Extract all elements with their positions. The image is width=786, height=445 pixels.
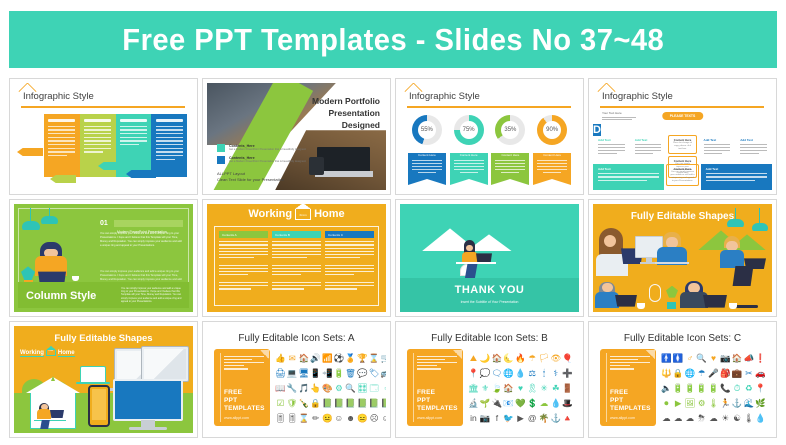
donut-label-1: 55% — [412, 115, 442, 145]
person-bl-body — [595, 292, 619, 308]
thank-you-subtitle: Insert the Subtitle of Your Presentation — [400, 300, 579, 304]
icon-cell[interactable]: ✏ — [310, 411, 321, 425]
slide-5-title: Column Style — [26, 290, 96, 302]
wfh-column-1: Contents A — [219, 231, 268, 300]
icon-cell[interactable]: ⚙ — [696, 396, 707, 410]
slide-thumbnail-1[interactable]: Infographic Style — [9, 78, 198, 195]
icon-cell[interactable]: ☁ — [673, 411, 684, 425]
icon-cell[interactable]: 😑 — [357, 411, 368, 425]
icon-cell[interactable]: 😐 — [322, 411, 333, 425]
imac-device — [141, 346, 189, 382]
slide-12-title: Fully Editable Icon Sets: C — [593, 333, 772, 344]
icon-cell[interactable]: 🔥 — [515, 352, 526, 366]
icon-cell[interactable]: ☁ — [708, 411, 719, 425]
icon-cell[interactable]: 🔍 — [696, 352, 707, 366]
icon-cell[interactable]: 🌡 — [708, 396, 719, 410]
icon-cell[interactable]: 🖼 — [685, 396, 696, 410]
icon-cell[interactable]: 🖥 — [299, 367, 310, 381]
house-icon: From — [295, 209, 311, 220]
icon-cell[interactable]: 📧 — [503, 396, 514, 410]
slide-thumbnail-7[interactable]: THANK YOU Insert the Subtitle of Your Pr… — [395, 199, 584, 316]
icon-cell[interactable]: 🚺 — [673, 352, 684, 366]
icon-cell[interactable]: 🗨 — [492, 367, 503, 381]
icon-cell[interactable]: 🔒 — [673, 367, 684, 381]
icon-cell[interactable]: 🏠 — [503, 381, 514, 395]
book-free-text: FREE PPT TEMPLATES — [417, 389, 458, 413]
icon-cell[interactable]: ⚜ — [480, 381, 491, 395]
icon-cell[interactable]: 🚹 — [661, 352, 672, 366]
icon-cell[interactable]: 🔒 — [310, 396, 321, 410]
icon-cell[interactable]: 💻 — [287, 367, 298, 381]
slide-10-title: Fully Editable Icon Sets: A — [207, 333, 386, 344]
icon-cell[interactable]: ⚖ — [527, 367, 538, 381]
slide-thumbnail-12[interactable]: Fully Editable Icon Sets: C FREE PPT TEM… — [588, 321, 777, 438]
slide-5-heading-bar: Modern PowerPoint Presentation — [114, 220, 183, 227]
feature-body-1: Get a Modern PowerPoint Presentation tha… — [229, 148, 328, 152]
donut-chart-4: 90% — [537, 115, 567, 145]
icon-cell[interactable]: ☯ — [732, 411, 743, 425]
page-title: Free PPT Templates - Slides No 37~48 — [122, 22, 664, 58]
ribbon-2: Content Here — [450, 153, 488, 185]
cell-b: Add Text — [630, 135, 667, 164]
icon-cell[interactable]: 🍾 — [299, 396, 310, 410]
slide-5-body: You can simply impress your audience and… — [100, 232, 183, 248]
icon-cell[interactable]: 🌙 — [480, 352, 491, 366]
icon-cell[interactable]: 🎚 — [275, 411, 286, 425]
slide-8-title: Fully Editable Shapes — [593, 211, 772, 222]
column-1 — [44, 114, 80, 177]
book-cover-c: FREE PPT TEMPLATES www.allppt.com — [601, 350, 655, 425]
icon-cell[interactable]: ▶ — [673, 396, 684, 410]
header-banner: Free PPT Templates - Slides No 37~48 — [9, 11, 777, 68]
icon-cell[interactable]: 📍 — [755, 381, 766, 395]
icon-cell[interactable]: ☘ — [550, 381, 561, 395]
icon-grid-a: 👍 ✉ 🏠 🔊 📶 ⚽ 🏅 🏆 ⌛ 🛒 🖨 💻 🖥 📱 📲 🔋 — [275, 352, 380, 425]
donut-chart-3: 35% — [495, 115, 525, 145]
icon-grid-c: 🚹 🚺 ♂ 🔍 ♥ 📷 🏠 📣 ❗ 🔱 🔒 🌐 ☂ 🎤 🎒 💼 — [661, 352, 766, 425]
slide-thumbnail-10[interactable]: Fully Editable Icon Sets: A FREE PPT TEM… — [202, 321, 391, 438]
icon-cell[interactable]: ⏱ — [732, 381, 743, 395]
icon-cell[interactable]: 🎤 — [708, 367, 719, 381]
icon-cell[interactable]: 🗔 — [369, 381, 380, 395]
slide-2-footer: ALLPPT Layout Clean Text Slide for your … — [217, 171, 284, 183]
icon-cell[interactable]: ▶ — [515, 411, 526, 425]
icon-cell[interactable]: ▫ — [381, 381, 386, 395]
icon-cell[interactable]: ⚽ — [334, 352, 345, 366]
slide-4-title: Infographic Style — [602, 91, 673, 102]
icon-cell[interactable]: 🔧 — [287, 381, 298, 395]
icon-cell[interactable]: ⚓ — [550, 411, 561, 425]
icon-cell[interactable]: 🌡 — [743, 411, 754, 425]
icon-cell[interactable]: 🔊 — [310, 352, 321, 366]
house-person-body — [37, 409, 51, 419]
lamp-icon-2 — [752, 223, 768, 231]
icon-cell[interactable]: ♥ — [708, 352, 719, 366]
center-badge[interactable]: PLEASE TEXTS — [662, 112, 703, 120]
icon-cell[interactable]: ✳ — [539, 381, 550, 395]
donut-label-2: 75% — [454, 115, 484, 145]
icon-cell[interactable]: 🎩 — [562, 396, 573, 410]
footer-cell-left: Add Text — [593, 164, 664, 190]
icon-cell[interactable]: 🎗 — [527, 381, 538, 395]
icon-cell[interactable]: 🏷 — [369, 367, 380, 381]
center-card-1: Content Here Place for change of copy, p… — [668, 135, 696, 154]
coffee-cup-1 — [637, 303, 645, 309]
book-cover-b: FREE PPT TEMPLATES www.allppt.com — [408, 350, 462, 425]
thank-you-title: THANK YOU — [400, 284, 579, 296]
icon-cell[interactable]: 📷 — [480, 411, 491, 425]
icon-cell[interactable]: ☁ — [539, 396, 550, 410]
icon-cell[interactable]: ✉ — [287, 352, 298, 366]
icon-cell[interactable]: 📶 — [322, 352, 333, 366]
icon-grid-b: ⛰ 🌙 🏠 🌜 🔥 ☂ 🏳 👁 🎈 📍 💭 🗨 🌐 💧 ⚖ 🕯 — [468, 352, 573, 425]
icon-cell[interactable]: ⚓ — [732, 396, 743, 410]
icon-cell[interactable]: 🔋 — [673, 381, 684, 395]
icon-cell[interactable]: 🌐 — [685, 367, 696, 381]
icon-cell[interactable]: 🔱 — [661, 367, 672, 381]
icon-cell[interactable]: 🖨 — [275, 367, 286, 381]
icon-cell[interactable]: 💧 — [550, 396, 561, 410]
icon-cell[interactable]: ⏺ — [661, 396, 672, 410]
icon-cell[interactable]: 🔍 — [345, 381, 356, 395]
icon-cell[interactable]: ❗ — [755, 352, 766, 366]
icon-cell[interactable]: 🏃 — [720, 396, 731, 410]
icon-cell[interactable]: 🐦 — [503, 411, 514, 425]
book-free-text: FREE PPT TEMPLATES — [610, 389, 651, 413]
chair-base — [734, 305, 758, 308]
donut-group-4: 90% — [537, 115, 567, 145]
title-underline — [600, 106, 764, 108]
icon-cell[interactable]: ☺ — [334, 411, 345, 425]
slide-6-title: Working From Home — [207, 208, 386, 220]
slide-thumbnail-8[interactable]: Fully Editable Shapes — [588, 199, 777, 316]
footer-cell-right: Add Text — [701, 164, 772, 190]
icon-cell[interactable]: 🎛 — [357, 381, 368, 395]
icon-cell[interactable]: 📗 — [322, 396, 333, 410]
icon-cell[interactable]: 🌐 — [503, 367, 514, 381]
slide-thumbnail-9[interactable]: Fully Editable Shapes Working From Home — [9, 321, 198, 438]
icon-cell[interactable]: 🔺 — [562, 411, 573, 425]
monitor-device — [113, 379, 183, 421]
ribbon-1: Content Here — [408, 153, 446, 185]
icon-cell[interactable]: 🔋 — [708, 381, 719, 395]
title-underline — [407, 106, 571, 108]
icon-cell[interactable]: 💭 — [480, 367, 491, 381]
slide-11-title: Fully Editable Icon Sets: B — [400, 333, 579, 344]
icon-cell[interactable]: 📱 — [310, 367, 321, 381]
donut-chart-1: 55% — [412, 115, 442, 145]
icon-cell[interactable]: 🕯 — [539, 367, 550, 381]
donut-chart-2: 75% — [454, 115, 484, 145]
feature-body-2: Get a Modern PowerPoint Presentation tha… — [229, 160, 328, 164]
laptop-3 — [615, 295, 637, 307]
slide-1-title: Infographic Style — [23, 91, 94, 102]
icon-cell[interactable]: ♻ — [743, 381, 754, 395]
icon-cell[interactable]: 🏠 — [299, 352, 310, 366]
icon-cell[interactable]: 🌴 — [539, 411, 550, 425]
icon-cell[interactable]: 🎨 — [322, 381, 333, 395]
icon-cell[interactable]: 🔋 — [685, 381, 696, 395]
icon-cell[interactable]: ☁ — [685, 411, 696, 425]
icon-cell[interactable]: 📗 — [369, 396, 380, 410]
icon-cell[interactable]: 💧 — [515, 367, 526, 381]
top-note: Your Text Here — [602, 111, 636, 120]
icon-cell[interactable]: 🏳 — [539, 352, 550, 366]
icon-cell[interactable]: in — [468, 411, 479, 425]
icon-cell[interactable]: 🌿 — [755, 396, 766, 410]
icon-cell[interactable]: 💚 — [515, 396, 526, 410]
icon-cell[interactable]: ⌛ — [369, 352, 380, 366]
icon-cell[interactable]: 🎒 — [720, 367, 731, 381]
slide-thumbnail-5[interactable]: 01 Modern PowerPoint Presentation You ca… — [9, 199, 198, 316]
person-bc-body — [680, 292, 708, 308]
icon-cell[interactable]: 📍 — [468, 367, 479, 381]
lamp-shade-2 — [41, 216, 58, 224]
icon-cell[interactable]: 📲 — [322, 367, 333, 381]
chart-icon — [217, 144, 225, 152]
icon-cell[interactable]: 📗 — [334, 396, 345, 410]
plant-pot-icon — [667, 302, 676, 309]
icon-cell[interactable]: 🔬 — [468, 396, 479, 410]
house-laptop — [50, 410, 64, 418]
center-card-3: Content Here You can simply impress your… — [666, 164, 698, 186]
icon-cell[interactable]: 📞 — [720, 381, 731, 395]
icon-cell[interactable]: 🗑 — [345, 367, 356, 381]
donut-group-2: 75% — [454, 115, 484, 145]
slide-grid: Infographic Style — [9, 78, 777, 438]
icon-cell[interactable]: 🚪 — [562, 381, 573, 395]
presentation-template-preview: Free PPT Templates - Slides No 37~48 Inf… — [0, 0, 786, 445]
icon-cell[interactable]: ☂ — [696, 367, 707, 381]
column-4 — [151, 114, 187, 177]
icon-cell[interactable]: 🔈 — [661, 381, 672, 395]
laptop-4 — [703, 295, 727, 308]
slide-thumbnail-4[interactable]: Infographic Style Your Text Here PLEASE … — [588, 78, 777, 195]
smartphone-device — [88, 385, 110, 427]
pointer-tab-4 — [126, 170, 156, 178]
icon-cell[interactable]: 👁 — [550, 352, 561, 366]
icon-cell[interactable]: 🎵 — [299, 381, 310, 395]
cell-a: Add Text — [593, 135, 630, 164]
icon-cell[interactable]: 📣 — [743, 352, 754, 366]
person-chair-legs — [733, 266, 754, 286]
cell-c: Add Text — [699, 135, 736, 164]
donut-label-3: 35% — [495, 115, 525, 145]
icon-cell[interactable]: 📷 — [720, 352, 731, 366]
icon-cell[interactable]: 🍃 — [492, 381, 503, 395]
icon-cell[interactable]: ☁ — [661, 411, 672, 425]
puzzle-icon — [217, 156, 225, 164]
icon-cell[interactable]: @ — [527, 411, 538, 425]
slide-9-title: Fully Editable Shapes — [14, 333, 193, 344]
icon-cell[interactable]: ➕ — [562, 367, 573, 381]
icon-cell[interactable]: 📗 — [345, 396, 356, 410]
slide-5-band-text: You can simply impress your audience and… — [121, 287, 183, 304]
icon-cell[interactable]: ☻ — [345, 411, 356, 425]
lamp-cord-1 — [30, 208, 31, 222]
icon-cell[interactable]: ☺ — [381, 411, 386, 425]
slide-3-title: Infographic Style — [409, 91, 480, 102]
book-url: www.allppt.com — [224, 416, 249, 420]
wfh-column-3: Contents C — [325, 231, 374, 300]
mouse-icon — [649, 284, 661, 302]
title-underline — [21, 106, 185, 108]
icon-cell[interactable]: 🎈 — [562, 352, 573, 366]
pointer-tab-1 — [17, 148, 43, 156]
book-free-text: FREE PPT TEMPLATES — [224, 389, 265, 413]
wfh-column-2: Contents B — [272, 231, 321, 300]
icon-cell[interactable]: 🏛 — [468, 381, 479, 395]
icon-cell[interactable]: ⌛ — [299, 411, 310, 425]
lamp-shade-1 — [22, 221, 40, 230]
ribbon-4: Content Here — [533, 153, 571, 185]
icon-cell[interactable]: ⚙ — [334, 381, 345, 395]
laptop-icon — [476, 253, 492, 262]
book-url: www.allppt.com — [417, 416, 442, 420]
icon-cell[interactable]: 📖 — [275, 381, 286, 395]
donut-label-4: 90% — [537, 115, 567, 145]
slide-thumbnail-3[interactable]: Infographic Style 55% 75% — [395, 78, 584, 195]
icon-cell[interactable]: ⛰ — [468, 352, 479, 366]
icon-cell[interactable]: 🛒 — [381, 352, 386, 366]
coffee-cup-2 — [729, 303, 737, 309]
icon-cell[interactable]: 💧 — [755, 411, 766, 425]
icon-cell[interactable]: 📗 — [357, 396, 368, 410]
icon-cell[interactable]: 🏆 — [357, 352, 368, 366]
icon-cell[interactable]: 🌱 — [480, 396, 491, 410]
icon-cell[interactable]: 🌊 — [743, 396, 754, 410]
cell-d: Add Text — [735, 135, 772, 164]
slide-2-title: Modern Portfolio Presentation Designed — [312, 95, 380, 131]
icon-cell[interactable]: ✂ — [743, 367, 754, 381]
icon-cell[interactable]: ⛈ — [696, 411, 707, 425]
icon-cell[interactable]: 🏅 — [345, 352, 356, 366]
icon-cell[interactable]: 🚌 — [381, 367, 386, 381]
icon-cell[interactable]: 🏠 — [732, 352, 743, 366]
lamp-icon-1 — [727, 219, 744, 227]
house-icon-small: From — [46, 350, 56, 356]
icon-cell[interactable]: ⚕ — [550, 367, 561, 381]
slide-thumbnail-2[interactable]: Modern Portfolio Presentation Designed C… — [202, 78, 391, 195]
icon-cell[interactable]: ♂ — [685, 352, 696, 366]
book-cover-a: FREE PPT TEMPLATES www.allppt.com — [215, 350, 269, 425]
icon-cell[interactable]: ☑ — [275, 396, 286, 410]
icon-cell[interactable]: 🔋 — [696, 381, 707, 395]
icon-cell[interactable]: ☀ — [720, 411, 731, 425]
icon-cell[interactable]: 📗 — [381, 396, 386, 410]
plant-icon — [666, 286, 678, 298]
icon-cell[interactable]: 🚗 — [755, 367, 766, 381]
laptop-device — [80, 366, 106, 382]
slide-6-columns-frame: Contents A — [214, 226, 379, 305]
slide-thumbnail-11[interactable]: Fully Editable Icon Sets: B FREE PPT TEM… — [395, 321, 584, 438]
donut-group-1: 55% — [412, 115, 442, 145]
icon-cell[interactable]: 🎚 — [287, 411, 298, 425]
icon-cell[interactable]: 🔌 — [492, 396, 503, 410]
icon-cell[interactable]: 🛡 — [287, 396, 298, 410]
icon-cell[interactable]: ♥ — [515, 381, 526, 395]
icon-cell[interactable]: ☂ — [527, 352, 538, 366]
icon-cell[interactable]: 👍 — [275, 352, 286, 366]
slide-5-number: 01 — [100, 220, 108, 227]
icon-cell[interactable]: 🌜 — [503, 352, 514, 366]
slide-9-subtitle: Working From Home — [20, 350, 75, 357]
book-url: www.allppt.com — [610, 416, 635, 420]
slide-thumbnail-6[interactable]: Working From Home Contents A — [202, 199, 391, 316]
icon-cell[interactable]: ☹ — [369, 411, 380, 425]
donut-group-3: 35% — [495, 115, 525, 145]
center-cards: Content Here Place for change of copy, p… — [666, 135, 698, 164]
icon-cell[interactable]: 👆 — [310, 381, 321, 395]
icon-cell[interactable]: 🔋 — [334, 367, 345, 381]
icon-cell[interactable]: 💬 — [357, 367, 368, 381]
icon-cell[interactable]: f — [492, 411, 503, 425]
ribbon-3: Content Here — [491, 153, 529, 185]
icon-cell[interactable]: 💲 — [527, 396, 538, 410]
icon-cell[interactable]: 🏠 — [492, 352, 503, 366]
icon-cell[interactable]: 💼 — [732, 367, 743, 381]
